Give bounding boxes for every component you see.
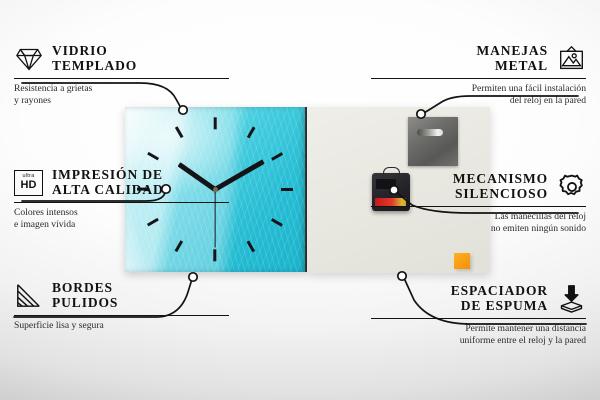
clock-tick	[214, 117, 217, 129]
spacer-press-icon	[557, 284, 586, 313]
feature-vidrio-templado: VIDRIO TEMPLADO Resistencia a grietas y …	[14, 44, 229, 107]
feature-divider	[14, 315, 229, 316]
feature-bordes-pulidos: BORDES PULIDOS Superficie lisa y segura	[14, 281, 229, 332]
feature-mecanismo-silencioso: MECANISMO SILENCIOSO Las manecillas del …	[371, 172, 586, 235]
foam-spacer-pad	[454, 253, 470, 269]
polished-edges-icon	[14, 281, 43, 310]
clock-tick	[214, 249, 217, 261]
clock-tick	[247, 126, 255, 138]
feature-header: ESPACIADOR DE ESPUMA	[371, 284, 586, 313]
feature-description-line1: Las manecillas del reloj	[371, 211, 586, 223]
feature-description-line2: del reloj en la pared	[371, 95, 586, 107]
feature-description-line1: Superficie lisa y segura	[14, 320, 229, 332]
ultra-hd-icon: ultra HD	[14, 168, 43, 197]
feature-title: VIDRIO TEMPLADO	[52, 44, 137, 73]
feature-divider	[14, 78, 229, 79]
picture-frame-hanger-icon	[557, 44, 586, 73]
feature-title: ESPACIADOR DE ESPUMA	[451, 284, 548, 313]
feature-description-line1: Resistencia a grietas	[14, 83, 229, 95]
feature-description-line2: e imagen vívida	[14, 219, 229, 231]
clock-tick	[175, 241, 183, 253]
feature-description-line1: Colores intensos	[14, 207, 229, 219]
feature-impresion-alta-calidad: ultra HD IMPRESIÓN DE ALTA CALIDAD Color…	[14, 168, 229, 231]
feature-description-line2: no emiten ningún sonido	[371, 223, 586, 235]
feature-description-line1: Permite mantener una distancia	[371, 323, 586, 335]
clock-tick	[271, 152, 283, 160]
feature-divider	[371, 318, 586, 319]
feature-manejas-metal: MANEJAS METAL Permiten una fácil instala…	[371, 44, 586, 107]
feature-header: ultra HD IMPRESIÓN DE ALTA CALIDAD	[14, 168, 229, 197]
feature-description-line2: y rayones	[14, 95, 229, 107]
feature-description-line2: uniforme entre el reloj y la pared	[371, 335, 586, 347]
feature-header: MANEJAS METAL	[371, 44, 586, 73]
clock-tick	[281, 188, 293, 191]
feature-divider	[371, 78, 586, 79]
ultra-hd-icon-large-text: HD	[21, 180, 37, 191]
feature-espaciador-de-espuma: ESPACIADOR DE ESPUMA Permite mantener un…	[371, 284, 586, 347]
feature-divider	[14, 202, 229, 203]
feature-header: VIDRIO TEMPLADO	[14, 44, 229, 73]
feature-header: BORDES PULIDOS	[14, 281, 229, 310]
feature-divider	[371, 206, 586, 207]
clock-tick	[147, 152, 159, 160]
feature-title: BORDES PULIDOS	[52, 281, 118, 310]
clock-tick	[271, 218, 283, 226]
gear-icon	[557, 172, 586, 201]
diamond-icon	[14, 44, 43, 73]
metal-hanger-plate	[408, 117, 458, 166]
feature-header: MECANISMO SILENCIOSO	[371, 172, 586, 201]
clock-tick	[175, 126, 183, 138]
feature-title: MANEJAS METAL	[476, 44, 548, 73]
hanger-slot	[417, 129, 443, 136]
feature-description-line1: Permiten una fácil instalación	[371, 83, 586, 95]
clock-tick	[247, 241, 255, 253]
feature-title: MECANISMO SILENCIOSO	[453, 172, 548, 201]
feature-title: IMPRESIÓN DE ALTA CALIDAD	[52, 168, 164, 197]
infographic-canvas: VIDRIO TEMPLADO Resistencia a grietas y …	[0, 0, 600, 400]
